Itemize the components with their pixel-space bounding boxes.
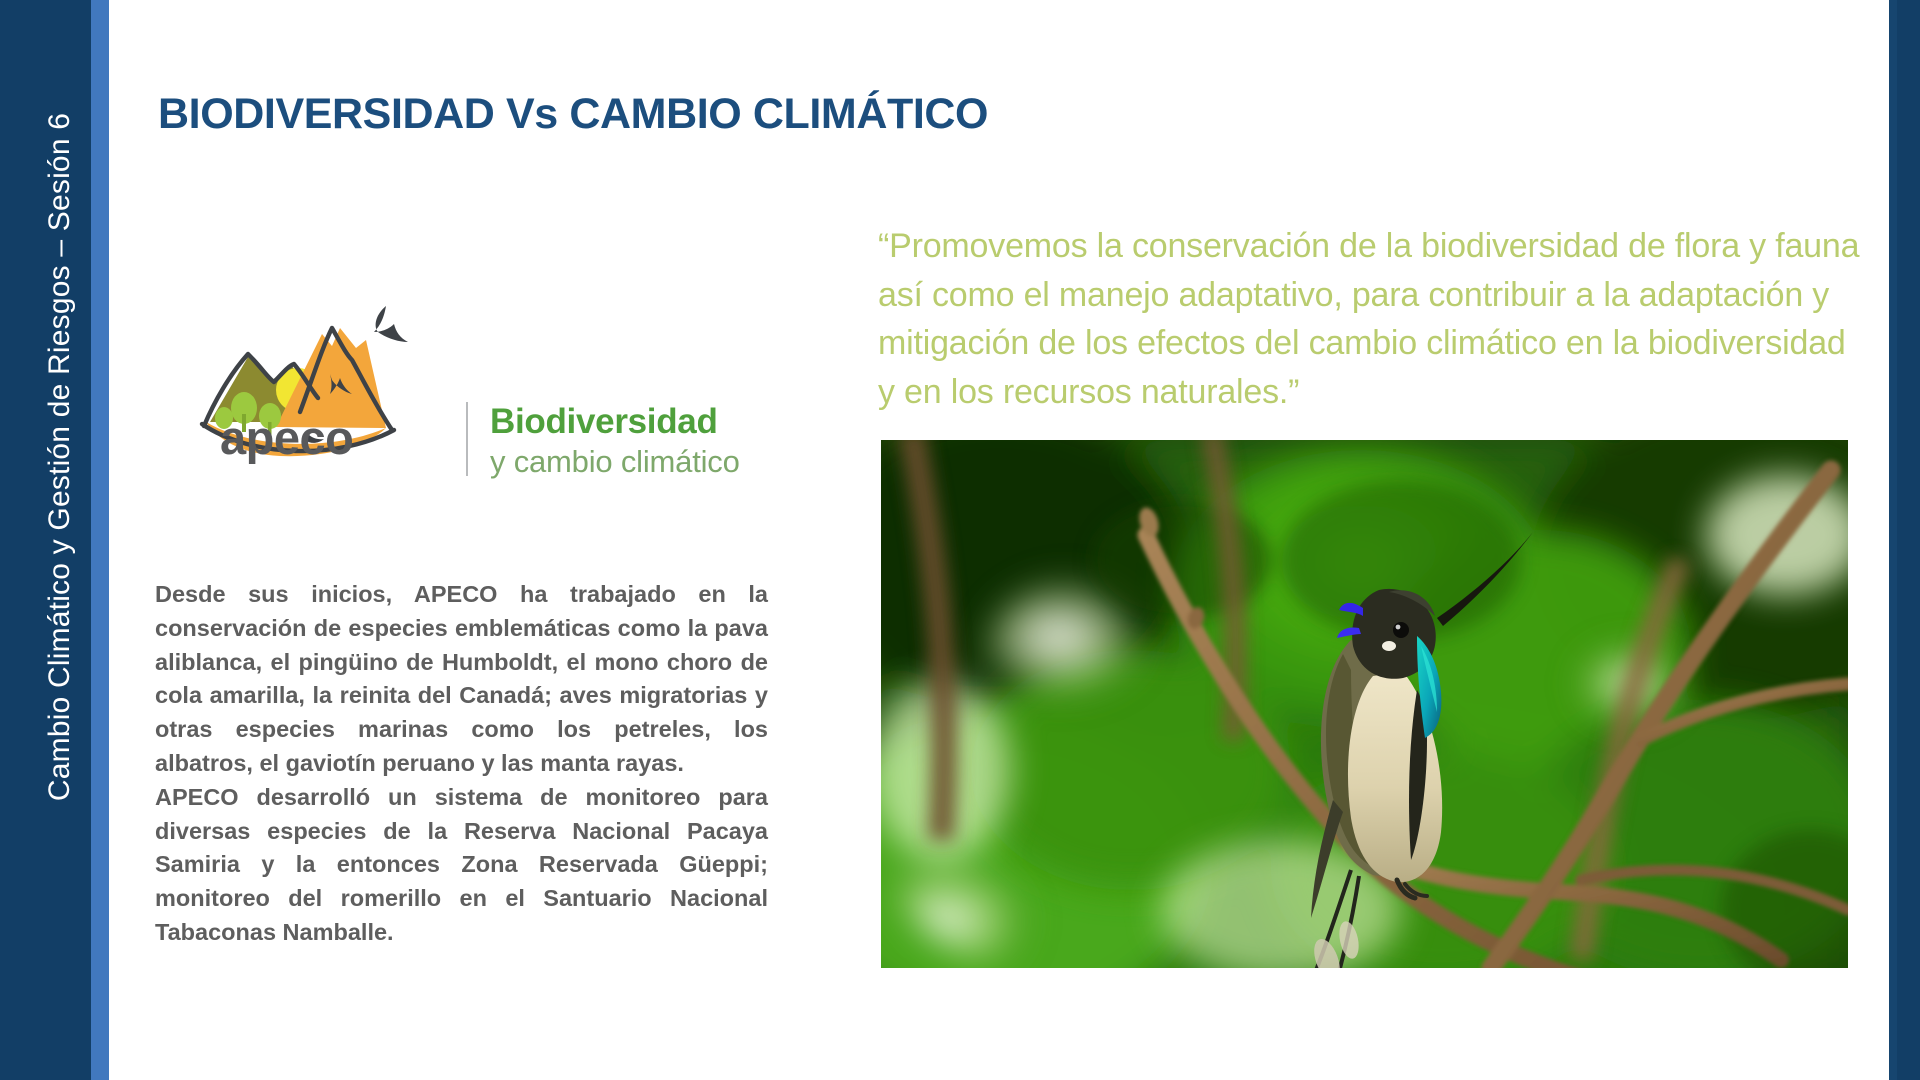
- hummingbird-photo: [881, 440, 1848, 968]
- slide-canvas: Cambio Climático y Gestión de Riesgos – …: [0, 0, 1920, 1080]
- mission-quote: “Promovemos la conservación de la biodiv…: [878, 222, 1868, 416]
- logo-divider: [466, 402, 468, 476]
- right-sidebar-bar: [1889, 0, 1920, 1080]
- page-title: BIODIVERSIDAD Vs CAMBIO CLIMÁTICO: [158, 90, 988, 139]
- logo-tagline-secondary: y cambio climático: [490, 444, 740, 480]
- body-paragraph-1: Desde sus inicios, APECO ha trabajado en…: [155, 578, 768, 781]
- body-text-block: Desde sus inicios, APECO ha trabajado en…: [155, 578, 768, 950]
- apeco-logo-lockup: apeco Biodiversidad y cambio climático: [180, 262, 760, 472]
- logo-tagline-primary: Biodiversidad: [490, 402, 718, 442]
- apeco-wordmark: apeco: [220, 410, 353, 465]
- right-sidebar-inner-stripe: [1889, 0, 1897, 1080]
- body-paragraph-2: APECO desarrolló un sistema de monitoreo…: [155, 781, 768, 950]
- left-sidebar-accent-stripe: [91, 0, 109, 1080]
- sidebar-vertical-label: Cambio Climático y Gestión de Riesgos – …: [43, 0, 77, 947]
